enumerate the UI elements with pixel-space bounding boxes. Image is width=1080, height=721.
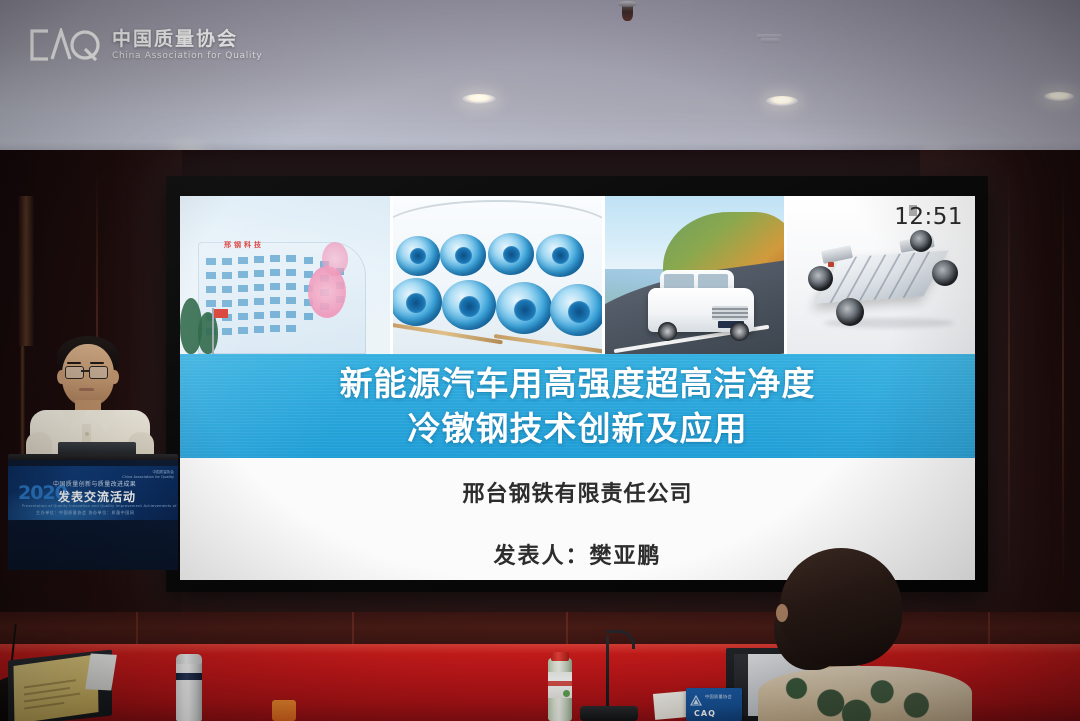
woman-foreground-back-view [772, 548, 972, 721]
ceiling-downlight [1044, 92, 1074, 101]
tree-shape [198, 312, 218, 354]
microphone-base [580, 706, 638, 721]
banner-header-line: 中国质量创新与质量改进成果 [53, 479, 136, 488]
slide-title-line-1: 新能源汽车用高强度超高洁净度 [340, 361, 816, 406]
conference-room-photo: 邢钢科技 [0, 0, 1080, 721]
building-sign-text: 邢钢科技 [224, 240, 264, 250]
banner-footer-line: 主办单位：中国质量协会 协办单位：质量中国网 [36, 510, 134, 516]
eyeglasses-icon [89, 366, 108, 379]
slide-title-band: 新能源汽车用高强度超高洁净度 冷镦钢技术创新及应用 [180, 354, 975, 458]
nameplate-subtext: 中国质量协会 [705, 694, 732, 700]
slide-title-line-2: 冷镦钢技术创新及应用 [408, 406, 748, 451]
ceiling-downlight [766, 96, 798, 106]
caq-logo-mark-icon [28, 28, 100, 62]
thermos-band [176, 673, 202, 680]
steel-wire-coils-photo [390, 196, 602, 354]
caq-logo-chinese-name: 中国质量协会 [112, 29, 262, 50]
banner-english-line: Presentation of Quality Innovation and Q… [22, 504, 178, 508]
nameplate-logo-icon [690, 692, 702, 704]
slide-organization: 邢台钢铁有限责任公司 [462, 476, 692, 508]
nameplate-text: CAQ [694, 709, 716, 718]
white-suv-on-road-photo [602, 196, 784, 354]
wall-panel-seam [1062, 170, 1064, 590]
ceiling-vent [760, 38, 780, 43]
eyeglasses-icon [65, 366, 84, 379]
ceiling [0, 0, 1080, 168]
woman-floral-top [758, 666, 972, 721]
wall-panel-seam [1008, 170, 1010, 590]
orange-object [272, 700, 296, 721]
bottle-cap [551, 652, 569, 661]
slide-presenter-line: 发表人：樊亚鹏 [493, 538, 661, 570]
wall-wood-strip [18, 196, 34, 346]
caq-logo-overlay: 中国质量协会 China Association for Quality [28, 28, 262, 62]
white-thermos-bottle [176, 657, 202, 721]
woman-hair [780, 548, 902, 666]
flag [214, 309, 228, 318]
bottle-green-mark [563, 690, 570, 697]
slide-photo-strip: 邢钢科技 [180, 196, 975, 354]
fire-sprinkler-icon [622, 4, 633, 21]
podium-banner: 中国质量协会 China Association for Quality 202… [8, 466, 178, 520]
thermos-cap [176, 654, 202, 664]
ceiling-downlight [462, 94, 496, 104]
white-paper-sheet [85, 654, 117, 691]
office-building-photo: 邢钢科技 [180, 196, 390, 354]
blossom-cluster [322, 242, 348, 276]
caq-logo-english-name: China Association for Quality [112, 50, 262, 62]
banner-main-line: 发表交流活动 [58, 488, 136, 505]
presentation-slide: 邢钢科技 [180, 196, 975, 580]
slide-clock: 12:51 [894, 204, 963, 230]
